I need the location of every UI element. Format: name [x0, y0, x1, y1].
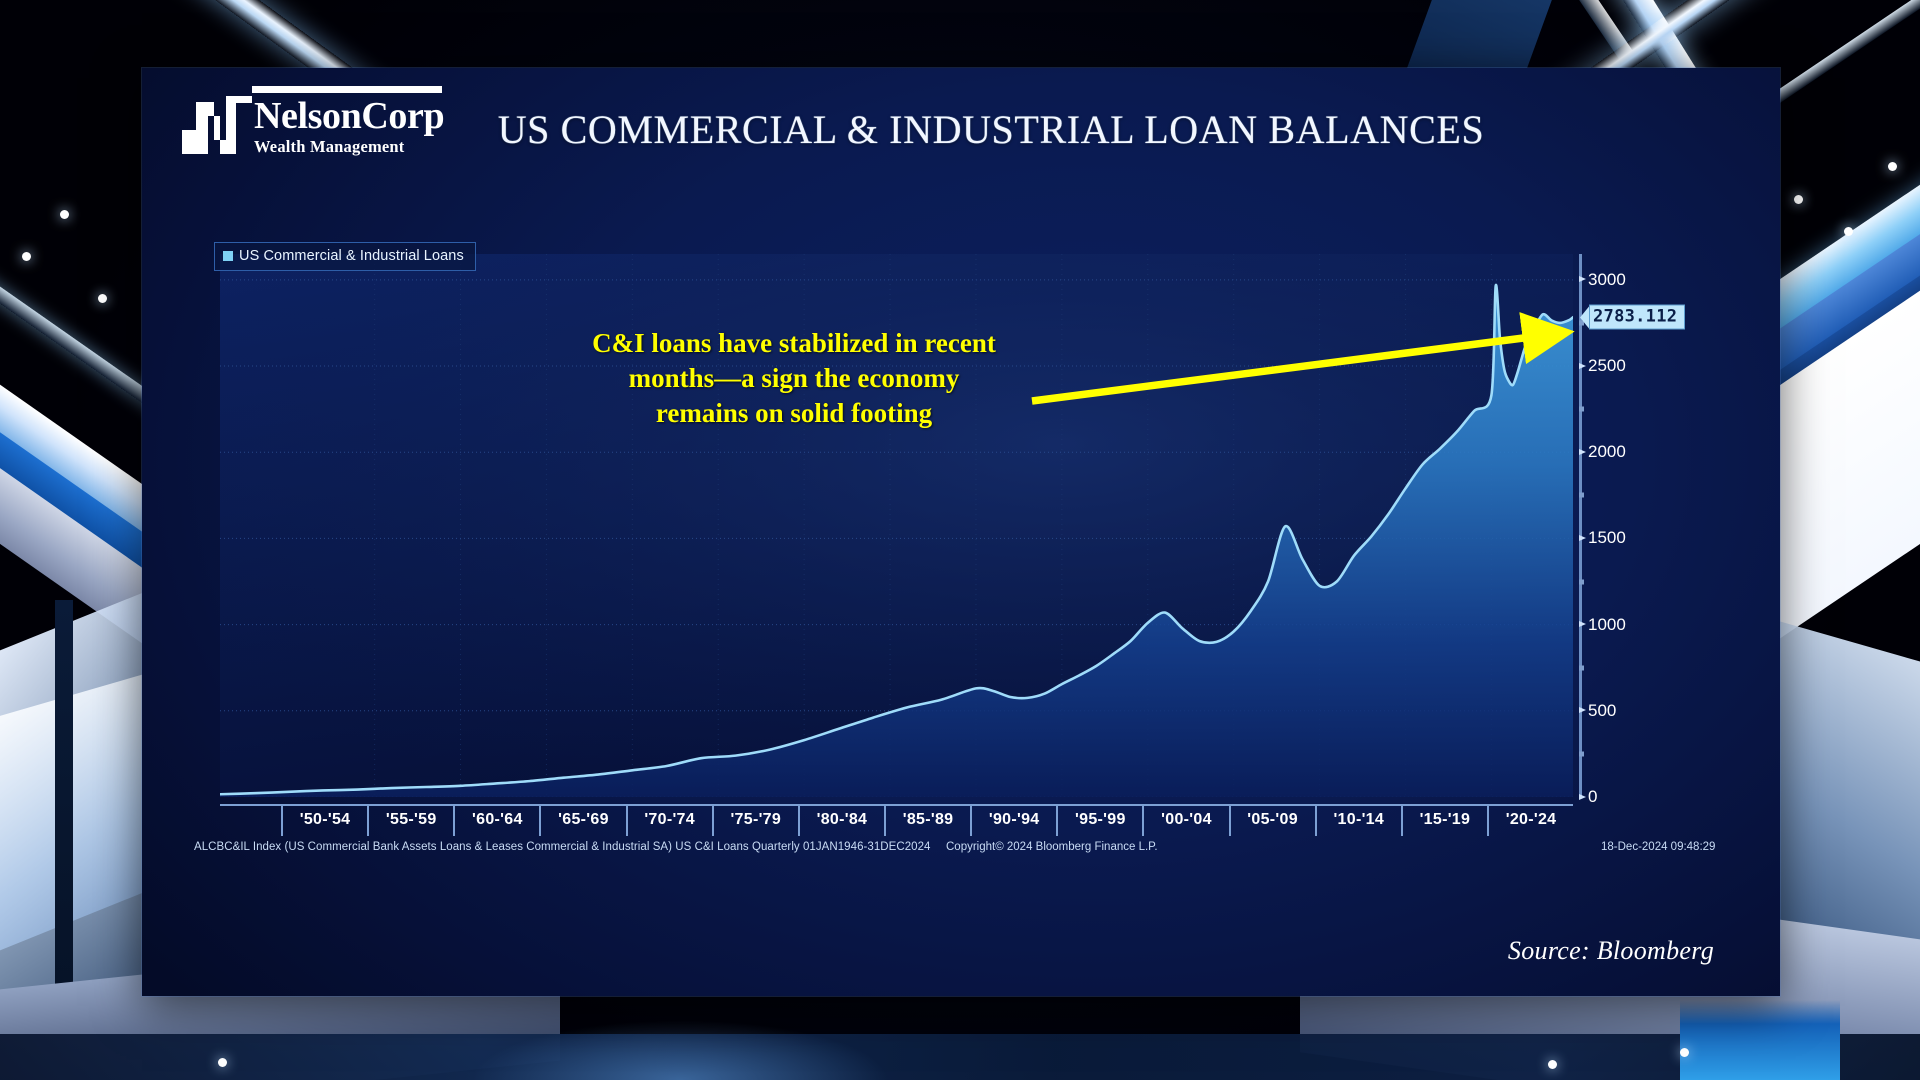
annotation-line-1: C&I loans have stabilized in recent: [579, 326, 1009, 361]
screenshot-stage: NelsonCorp Wealth Management US COMMERCI…: [0, 0, 1920, 1080]
y-axis-minor-tick: [1579, 493, 1584, 498]
x-axis-tick-label: '65-'69: [539, 806, 625, 836]
y-axis-tick-label: 500: [1588, 701, 1616, 721]
chart-footnote-left: ALCBC&IL Index (US Commercial Bank Asset…: [194, 841, 931, 853]
current-value-callout[interactable]: 2783.112: [1580, 305, 1685, 330]
presentation-slide: NelsonCorp Wealth Management US COMMERCI…: [142, 68, 1780, 996]
legend-square-icon: [223, 251, 233, 261]
chart-annotation-text: C&I loans have stabilized in recent mont…: [579, 326, 1009, 431]
x-axis-tick-label: '15-'19: [1401, 806, 1487, 836]
y-axis-tick-label: 1000: [1588, 615, 1626, 635]
x-axis-tick-label: '85-'89: [884, 806, 970, 836]
x-axis-tick-label: '60-'64: [453, 806, 539, 836]
x-axis-tick-label: '80-'84: [798, 806, 884, 836]
y-axis-tick-label: 2000: [1588, 442, 1626, 462]
background-light-dot: [98, 294, 107, 303]
chart-legend[interactable]: US Commercial & Industrial Loans: [214, 242, 476, 271]
chart-footnote-center: Copyright© 2024 Bloomberg Finance L.P.: [946, 841, 1158, 853]
y-axis-minor-tick: [1579, 407, 1584, 412]
x-axis-leading-spacer: [220, 806, 281, 836]
callout-pointer-icon: [1580, 306, 1589, 328]
background-light-dot: [1794, 195, 1803, 204]
annotation-line-2: months—a sign the economy: [579, 361, 1009, 396]
x-axis-tick-label: '05-'09: [1229, 806, 1315, 836]
y-axis-minor-tick: [1579, 665, 1584, 670]
annotation-line-3: remains on solid footing: [579, 396, 1009, 431]
x-axis-tick-label: '00-'04: [1142, 806, 1228, 836]
y-axis-tick-label: 0: [1588, 787, 1597, 807]
page-title: US COMMERCIAL & INDUSTRIAL LOAN BALANCES: [142, 106, 1780, 153]
background-light-dot: [1680, 1048, 1689, 1057]
background-light-dot: [1548, 1060, 1557, 1069]
bloomberg-chart: US Commercial & Industrial Loans: [194, 226, 1732, 936]
y-axis-tick-label: 3000: [1588, 270, 1626, 290]
y-axis-tick-label: 2500: [1588, 356, 1626, 376]
x-axis-tick-label: '10-'14: [1315, 806, 1401, 836]
x-axis-tick-label: '90-'94: [970, 806, 1056, 836]
chart-x-axis: '50-'54'55-'59'60-'64'65-'69'70-'74'75-'…: [220, 804, 1573, 836]
x-axis-tick-label: '95-'99: [1056, 806, 1142, 836]
background-light-dot: [1844, 227, 1853, 236]
y-axis-minor-tick: [1579, 751, 1584, 756]
chart-y-axis: 050010001500200025003000 2783.112: [1580, 254, 1730, 797]
x-axis-tick-label: '50-'54: [281, 806, 367, 836]
x-axis-tick-label: '20-'24: [1487, 806, 1573, 836]
y-axis-tick-label: 1500: [1588, 528, 1626, 548]
legend-series-label: US Commercial & Industrial Loans: [239, 248, 464, 264]
x-axis-tick-label: '75-'79: [712, 806, 798, 836]
y-axis-minor-tick: [1579, 579, 1584, 584]
background-light-dot: [218, 1058, 227, 1067]
x-axis-tick-label: '55-'59: [367, 806, 453, 836]
current-value-text: 2783.112: [1589, 305, 1685, 330]
chart-footnote-right: 18-Dec-2024 09:48:29: [1601, 841, 1715, 853]
background-light-dot: [22, 252, 31, 261]
x-axis-tick-label: '70-'74: [626, 806, 712, 836]
background-light-dot: [60, 210, 69, 219]
background-light-dot: [1888, 162, 1897, 171]
y-axis-line: [1579, 254, 1582, 797]
source-attribution: Source: Bloomberg: [1508, 936, 1714, 966]
